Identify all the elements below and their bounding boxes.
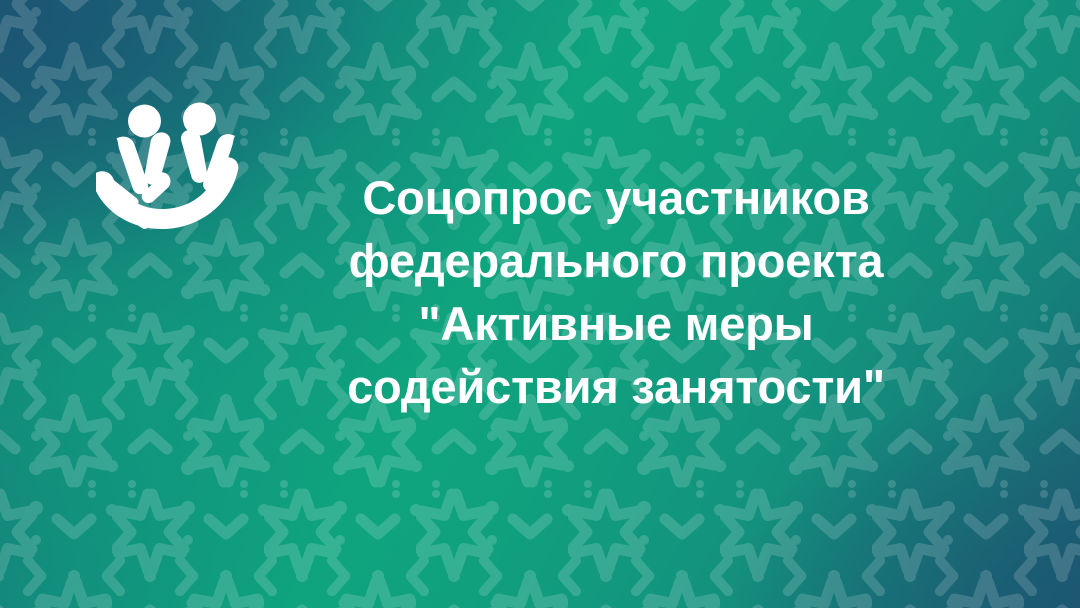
organization-logo — [96, 100, 256, 236]
page-title: Соцопрос участников федерального проекта… — [296, 166, 936, 418]
title-line-1: Соцопрос участников — [296, 166, 936, 229]
title-line-2: федерального проекта — [296, 229, 936, 292]
title-line-3: "Активные меры — [296, 292, 936, 355]
title-slide: Соцопрос участников федерального проекта… — [0, 0, 1080, 608]
title-line-4: содействия занятости" — [296, 355, 936, 418]
